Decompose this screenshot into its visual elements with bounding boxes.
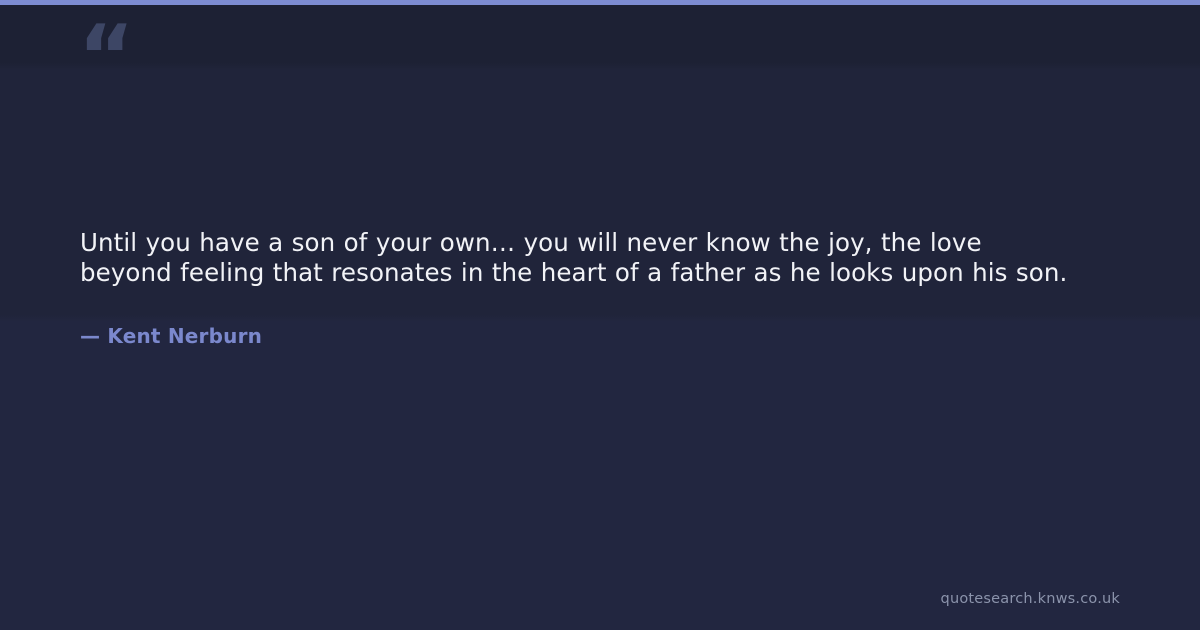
attribution-author-name: Kent Nerburn xyxy=(107,324,262,348)
open-quote-icon: “ xyxy=(78,14,134,100)
quote-text: Until you have a son of your own… you wi… xyxy=(80,228,1080,288)
quote-content-block: Until you have a son of your own… you wi… xyxy=(80,228,1080,348)
attribution-dash: — xyxy=(80,324,107,348)
site-watermark: quotesearch.knws.co.uk xyxy=(941,590,1120,608)
quote-attribution: — Kent Nerburn xyxy=(80,288,1080,348)
top-accent-bar xyxy=(0,0,1200,5)
quote-card: “ Until you have a son of your own… you … xyxy=(0,0,1200,630)
